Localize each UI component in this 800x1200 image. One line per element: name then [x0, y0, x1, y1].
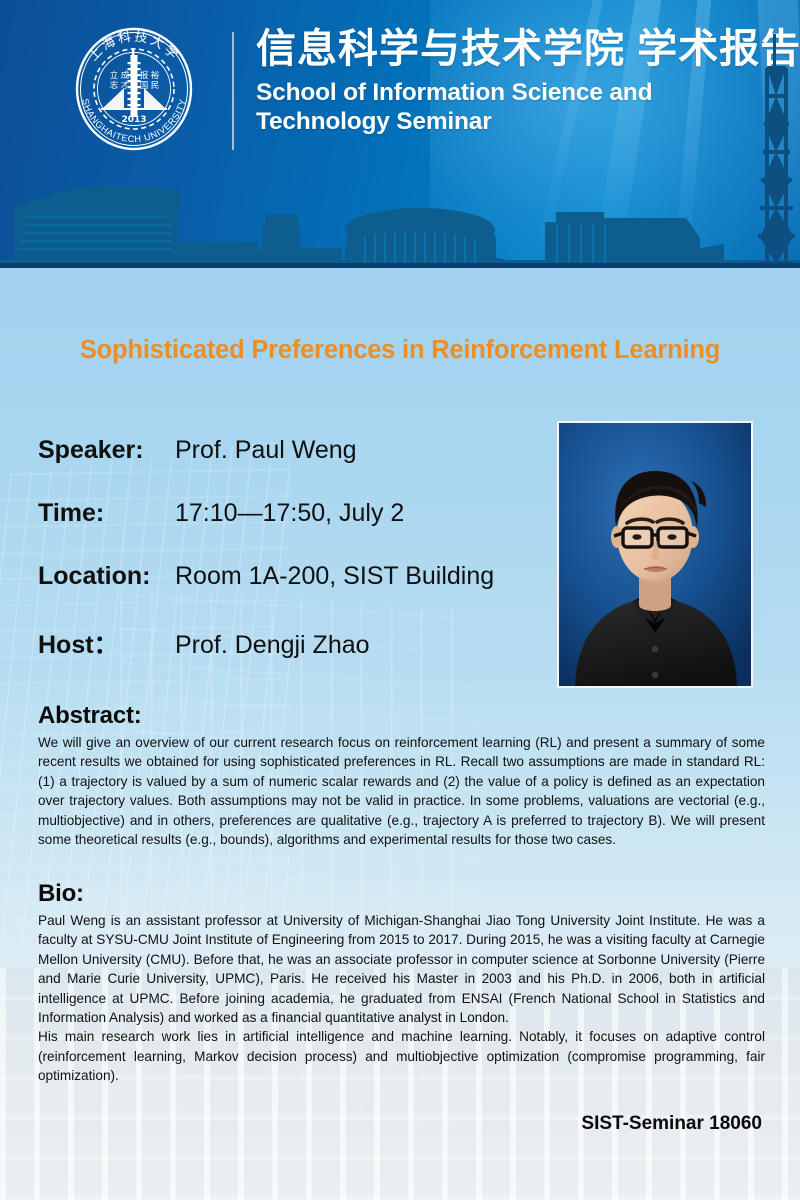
svg-text:2013: 2013 — [121, 115, 146, 125]
poster-header: 立 成 报 裕 志 才 国 民 2013 上海科技大学 SHANGHAITECH… — [0, 0, 800, 268]
info-value-host: Prof. Dengji Zhao — [175, 631, 370, 660]
svg-text:国: 国 — [140, 81, 149, 91]
poster-content: Sophisticated Preferences in Reinforceme… — [0, 268, 800, 1200]
svg-text:才: 才 — [121, 80, 130, 91]
seminar-code: SIST-Seminar 18060 — [0, 1113, 762, 1135]
bio-paragraph-2: His main research work lies in artificia… — [38, 1027, 765, 1085]
svg-text:志: 志 — [110, 80, 119, 91]
svg-text:立: 立 — [110, 70, 119, 81]
header-titles: 信息科学与技术学院 学术报告 School of Information Sci… — [256, 26, 776, 136]
header-divider — [232, 32, 234, 150]
info-row-host: Host： Prof. Dengji Zhao — [38, 625, 538, 688]
abstract-heading: Abstract: — [38, 702, 765, 730]
abstract-text: We will give an overview of our current … — [38, 733, 765, 849]
seminar-info-list: Speaker: Prof. Paul Weng Time: 17:10—17:… — [38, 436, 538, 688]
campus-skyline-graphic — [0, 138, 800, 268]
shanghaitech-logo-icon: 立 成 报 裕 志 才 国 民 2013 上海科技大学 SHANGHAITECH… — [67, 22, 201, 156]
talk-title: Sophisticated Preferences in Reinforceme… — [0, 336, 800, 365]
info-value-speaker: Prof. Paul Weng — [175, 436, 357, 465]
info-label-host: Host： — [38, 625, 175, 661]
info-row-location: Location: Room 1A-200, SIST Building — [38, 562, 538, 625]
info-label-location: Location: — [38, 562, 175, 591]
svg-text:成: 成 — [121, 70, 130, 81]
header-title-english-line2: Technology Seminar — [256, 107, 776, 136]
info-row-time: Time: 17:10—17:50, July 2 — [38, 499, 538, 562]
lattice-tower-icon — [748, 34, 800, 268]
info-row-speaker: Speaker: Prof. Paul Weng — [38, 436, 538, 499]
info-label-time: Time: — [38, 499, 175, 528]
svg-text:民: 民 — [151, 81, 160, 91]
bio-paragraph-1: Paul Weng is an assistant professor at U… — [38, 911, 765, 1027]
bio-section: Bio: Paul Weng is an assistant professor… — [38, 880, 765, 1086]
seminar-poster: 立 成 报 裕 志 才 国 民 2013 上海科技大学 SHANGHAITECH… — [0, 0, 800, 1200]
svg-text:报: 报 — [140, 70, 149, 81]
header-title-english-line1: School of Information Science and — [256, 78, 776, 107]
bio-heading: Bio: — [38, 880, 765, 908]
info-label-speaker: Speaker: — [38, 436, 175, 465]
svg-text:裕: 裕 — [151, 70, 160, 81]
abstract-section: Abstract: We will give an overview of ou… — [38, 702, 765, 849]
speaker-photo — [557, 421, 753, 688]
header-title-chinese: 信息科学与技术学院 学术报告 — [256, 26, 776, 72]
info-value-location: Room 1A-200, SIST Building — [175, 562, 494, 591]
info-value-time: 17:10—17:50, July 2 — [175, 499, 404, 528]
